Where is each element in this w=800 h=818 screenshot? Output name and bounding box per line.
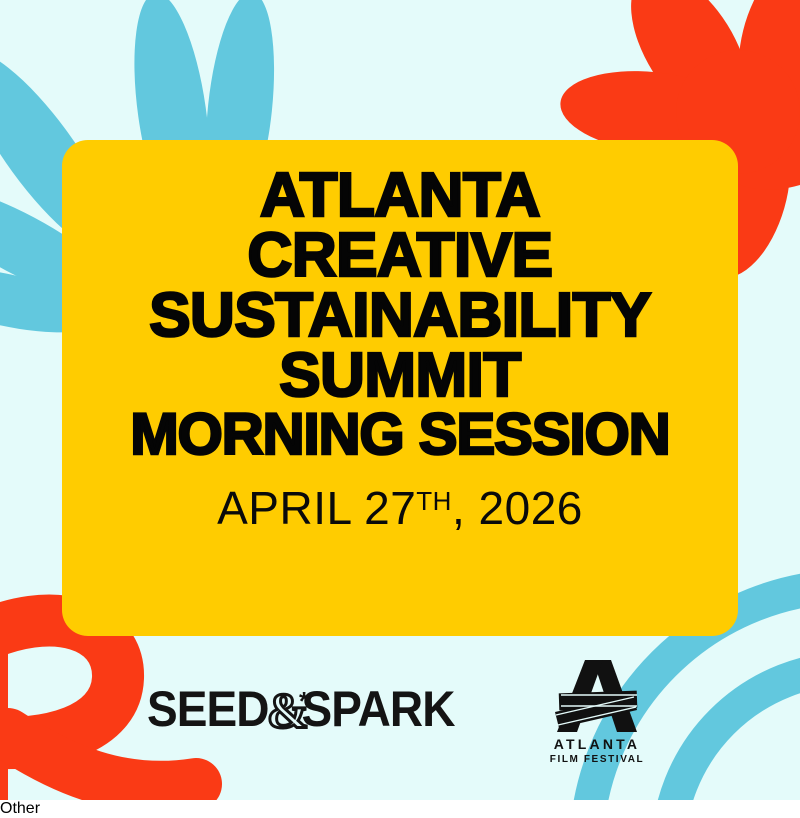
headline-line-2: CREATIVE [82,226,718,286]
atlanta-film-festival-name-line-1: ATLANTA [554,736,640,752]
seed-and-spark-wordmark-right: SPARK [302,682,456,737]
atlanta-film-festival-name-line-2: FILM FESTIVAL [550,754,645,765]
seed-and-spark-logo: SEED & * SPARK [147,682,477,738]
event-date-year: , 2026 [452,485,583,531]
headline-line-5: MORNING SESSION [82,407,718,463]
headline-line-1: ATLANTA [82,166,718,226]
headline-line-3: SUSTAINABILITY [82,286,718,346]
seed-and-spark-wordmark-left: SEED [147,682,269,737]
headline-line-4: SUMMIT [82,346,718,406]
event-poster: ATLANTA CREATIVE SUSTAINABILITY SUMMIT M… [0,0,800,800]
event-date: APRIL 27TH, 2026 [217,485,583,531]
announcement-card: ATLANTA CREATIVE SUSTAINABILITY SUMMIT M… [62,140,738,636]
event-date-prefix: APRIL 27 [217,485,416,531]
atlanta-film-festival-logo: ATLANTA FILM FESTIVAL [541,654,653,766]
film-strip-a-monogram-icon [555,660,637,732]
logo-row: SEED & * SPARK ATLANTA FILM FESTI [0,650,800,770]
event-date-ordinal-suffix: TH [416,488,452,514]
